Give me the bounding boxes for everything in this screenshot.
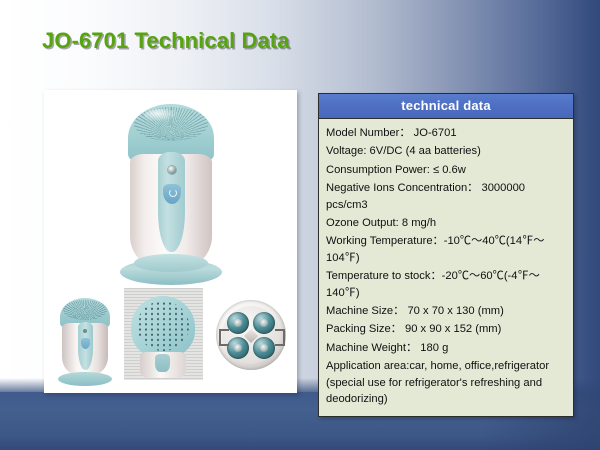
grille-thumb-panel (155, 354, 170, 372)
thumbnail-grille-top-view (124, 288, 203, 380)
product-base-top (134, 254, 208, 272)
spec-row: Ozone Output: 8 mg/h (326, 214, 566, 232)
thumb-cap-grille-icon (63, 300, 107, 320)
hero-product-image (114, 104, 226, 294)
thumb-led-icon (83, 329, 87, 333)
spec-row: Packing Size： 90 x 90 x 152 (mm) (326, 320, 566, 338)
thumb-base (58, 372, 112, 386)
battery-clip-icon (275, 329, 285, 346)
spec-row: Voltage: 6V/DC (4 aa batteries) (326, 142, 566, 160)
spec-row: Machine Size： 70 x 70 x 130 (mm) (326, 302, 566, 320)
battery-clip-icon (219, 329, 229, 346)
battery-cell-icon (227, 337, 249, 359)
thumbnail-battery-compartment (216, 300, 288, 372)
spec-row: Model Number： JO-6701 (326, 124, 566, 142)
battery-cell-icon (253, 312, 275, 334)
led-indicator-icon (168, 166, 176, 174)
battery-cell-icon (227, 312, 249, 334)
grille-dome (131, 296, 195, 358)
slide-canvas: JO-6701 Technical Data (0, 0, 600, 450)
spec-row: Temperature to stock：-20℃～60℃(-4℉～140℉) (326, 267, 566, 302)
spec-row: Negative Ions Concentration： 3000000 pcs… (326, 179, 566, 214)
grille-holes-icon (137, 301, 189, 351)
technical-data-table: technical data Model Number： JO-6701 Vol… (318, 93, 574, 417)
spec-row: Consumption Power: ≤ 0.6w (326, 161, 566, 179)
product-image-panel (44, 90, 297, 393)
spec-row: Machine Weight： 180 g (326, 339, 566, 357)
spec-row: Working Temperature：-10℃～40℃(14℉～104℉) (326, 232, 566, 267)
thumbnail-product-full-view (54, 298, 118, 386)
cap-highlight (144, 109, 178, 122)
battery-cell-icon (253, 337, 275, 359)
technical-data-body: Model Number： JO-6701 Voltage: 6V/DC (4 … (319, 119, 573, 416)
technical-data-header: technical data (319, 94, 573, 119)
page-title: JO-6701 Technical Data (42, 28, 290, 54)
spec-row: Application area:car, home, office,refri… (326, 357, 566, 408)
